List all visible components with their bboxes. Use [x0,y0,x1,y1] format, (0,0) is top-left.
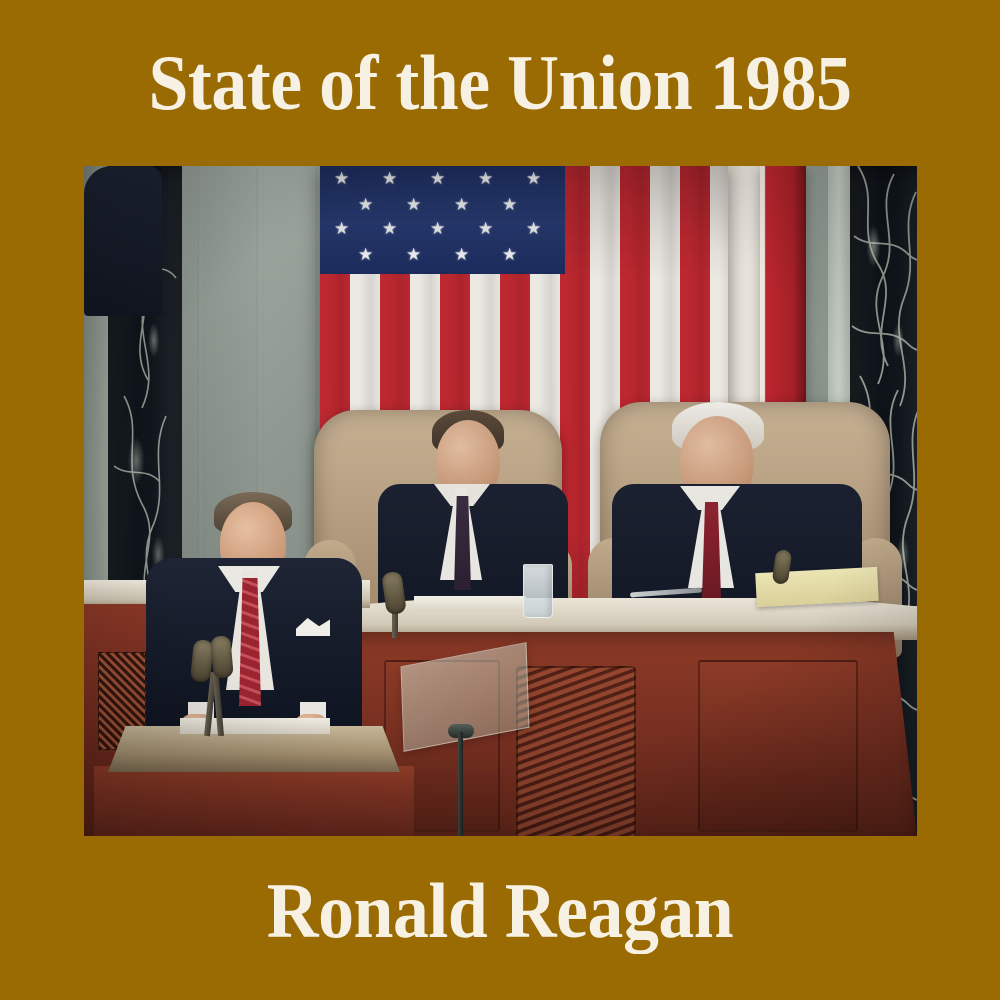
microphone-head [210,635,234,679]
figure-tip-oneill [84,166,162,316]
teleprompter-stand [458,732,463,836]
speech-papers [414,596,526,612]
podium-speech-papers [180,718,330,734]
page-title: State of the Union 1985 [40,44,960,122]
photo-frame: ★ ★ ★ ★ ★ ★ ★ ★ ★ ★ ★ ★ ★ ★ ★ ★ ★ ★ [84,166,917,836]
oneill-tie [702,502,721,598]
podium-front [94,766,414,836]
bush-tie [454,496,471,590]
reagan-tie [239,578,261,706]
water-glass [523,564,553,618]
rostrum-carved-relief [516,666,636,836]
poster-caption: Ronald Reagan [40,872,960,950]
oneill-arm [84,166,162,316]
poster-canvas: State of the Union 1985 [0,0,1000,1000]
rostrum-panel-right [698,660,858,832]
